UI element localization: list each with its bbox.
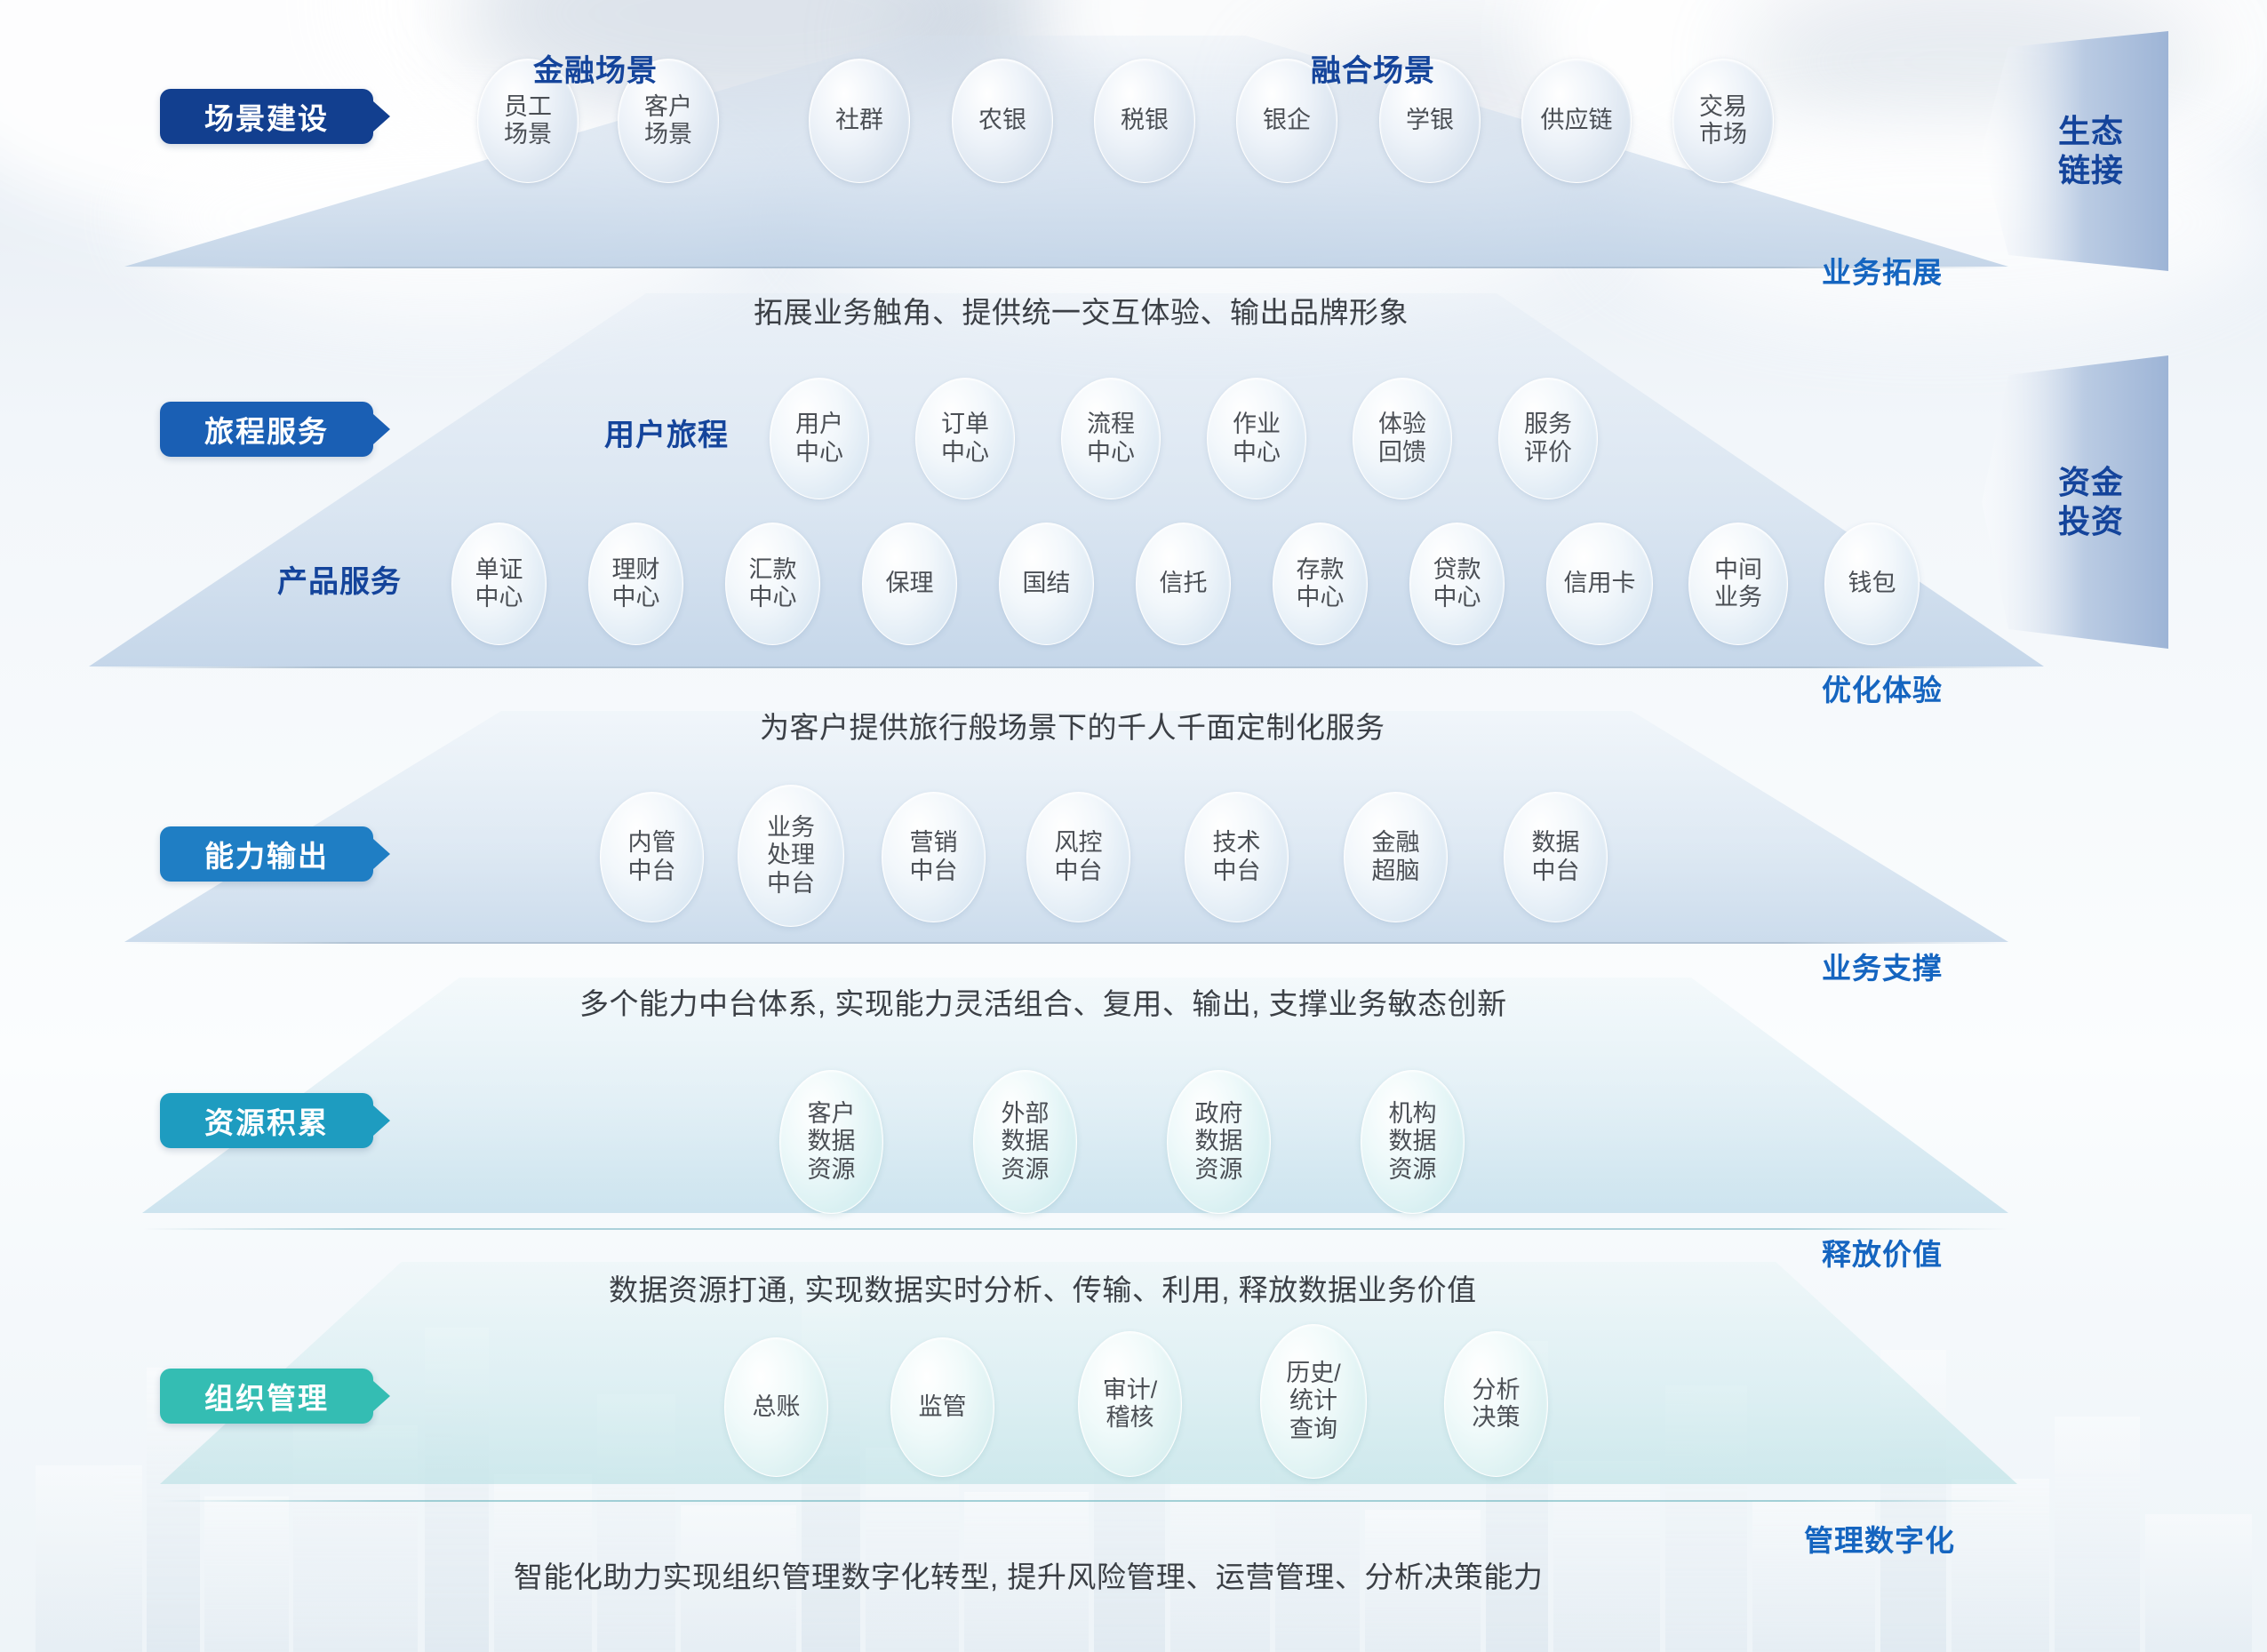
node-wallet[interactable]: 钱包 (1824, 523, 1920, 645)
tier-tab-label: 旅程服务 (204, 408, 329, 451)
node-label: 作业 中心 (1233, 411, 1281, 467)
node-label: 技术 中台 (1213, 829, 1261, 885)
node-label: 学银 (1406, 107, 1454, 134)
node-label: 信托 (1160, 570, 1208, 597)
node-label: 机构 数据 资源 (1389, 1100, 1437, 1184)
node-experience-feedback[interactable]: 体验 回馈 (1353, 378, 1452, 499)
tier-tab-resource-accumulation[interactable]: 资源积累 (160, 1093, 373, 1148)
node-label: 服务 评价 (1524, 411, 1572, 467)
node-document-center[interactable]: 单证 中心 (451, 523, 547, 645)
side-banner-ecosystem: 生态 链接 (1982, 31, 2168, 271)
caption-tier-1: 拓展业务触角、提供统一交互体验、输出品牌形象 (754, 289, 1409, 331)
right-label-release-value: 释放价值 (1822, 1231, 1943, 1273)
node-analysis-decision[interactable]: 分析 决策 (1444, 1331, 1548, 1477)
node-credit-card[interactable]: 信用卡 (1546, 523, 1653, 645)
node-label: 农银 (978, 107, 1026, 134)
side-banner-funding-label: 资金 投资 (2058, 463, 2124, 541)
node-supply-chain[interactable]: 供应链 (1521, 59, 1632, 183)
node-label: 中间 业务 (1714, 556, 1762, 612)
node-financial-brain[interactable]: 金融 超脑 (1344, 792, 1448, 922)
node-label: 社群 (835, 107, 883, 134)
node-wealth-center[interactable]: 理财 中心 (588, 523, 683, 645)
tier-tab-label: 资源积累 (204, 1099, 329, 1142)
right-label-optimize-experience: 优化体验 (1822, 666, 1943, 709)
node-marketing-platform[interactable]: 营销 中台 (882, 792, 986, 922)
node-community[interactable]: 社群 (809, 59, 910, 183)
node-label: 员工 场景 (504, 93, 552, 149)
node-label: 客户 场景 (644, 93, 692, 149)
node-label: 订单 中心 (941, 411, 989, 467)
node-data-platform[interactable]: 数据 中台 (1504, 792, 1608, 922)
tier-tab-organization-management[interactable]: 组织管理 (160, 1369, 373, 1424)
node-label: 信用卡 (1564, 570, 1636, 597)
node-service-evaluation[interactable]: 服务 评价 (1498, 378, 1598, 499)
node-order-center[interactable]: 订单 中心 (915, 378, 1015, 499)
node-label: 政府 数据 资源 (1195, 1100, 1243, 1184)
node-label: 汇款 中心 (749, 556, 797, 612)
node-label: 银企 (1263, 107, 1311, 134)
node-label: 国结 (1023, 570, 1071, 597)
node-government-data-resource[interactable]: 政府 数据 资源 (1167, 1070, 1271, 1214)
node-customer-data-resource[interactable]: 客户 数据 资源 (779, 1070, 883, 1214)
side-banner-funding: 资金 投资 (1982, 355, 2168, 649)
node-institution-data-resource[interactable]: 机构 数据 资源 (1361, 1070, 1465, 1214)
node-external-data-resource[interactable]: 外部 数据 资源 (973, 1070, 1077, 1214)
side-banner-ecosystem-label: 生态 链接 (2058, 112, 2124, 190)
group-title-product-service: 产品服务 (277, 557, 402, 601)
right-label-management-digitalization: 管理数字化 (1804, 1517, 1955, 1560)
node-label: 业务 处理 中台 (767, 814, 815, 898)
node-business-process-platform[interactable]: 业务 处理 中台 (738, 785, 844, 927)
node-label: 营销 中台 (910, 829, 958, 885)
node-label: 审计/ 稽核 (1103, 1377, 1158, 1433)
group-title-financial-scene: 金融场景 (533, 46, 658, 90)
node-label: 风控 中台 (1055, 829, 1103, 885)
right-label-business-expansion: 业务拓展 (1822, 249, 1943, 291)
node-label: 内管 中台 (628, 829, 676, 885)
tier-1-divider (124, 267, 2008, 268)
tier-tab-capability-output[interactable]: 能力输出 (160, 826, 373, 882)
node-label: 存款 中心 (1297, 556, 1345, 612)
node-factoring[interactable]: 保理 (862, 523, 957, 645)
tier-tab-label: 能力输出 (204, 833, 329, 875)
node-label: 金融 超脑 (1372, 829, 1420, 885)
node-history-statistics-query[interactable]: 历史/ 统计 查询 (1260, 1324, 1367, 1479)
node-label: 历史/ 统计 查询 (1286, 1360, 1341, 1443)
node-international-settlement[interactable]: 国结 (999, 523, 1094, 645)
tier-tab-label: 组织管理 (204, 1375, 329, 1417)
node-user-center[interactable]: 用户 中心 (770, 378, 869, 499)
node-supervision[interactable]: 监管 (890, 1337, 994, 1477)
node-label: 客户 数据 资源 (808, 1100, 856, 1184)
node-risk-control-platform[interactable]: 风控 中台 (1026, 792, 1130, 922)
group-title-fusion-scene: 融合场景 (1311, 46, 1435, 90)
node-technology-platform[interactable]: 技术 中台 (1185, 792, 1289, 922)
node-label: 供应链 (1541, 107, 1613, 134)
caption-tier-3: 多个能力中台体系, 实现能力灵活组合、复用、输出, 支撑业务敏态创新 (579, 980, 1507, 1023)
node-label: 交易 市场 (1699, 93, 1747, 149)
caption-tier-5: 智能化助力实现组织管理数字化转型, 提升风险管理、运营管理、分析决策能力 (514, 1553, 1543, 1596)
node-label: 税银 (1121, 107, 1169, 134)
node-deposit-center[interactable]: 存款 中心 (1273, 523, 1368, 645)
node-general-ledger[interactable]: 总账 (724, 1337, 828, 1477)
node-intermediary-business[interactable]: 中间 业务 (1688, 523, 1788, 645)
node-label: 数据 中台 (1532, 829, 1580, 885)
node-trust[interactable]: 信托 (1136, 523, 1231, 645)
tier-tab-scene-building[interactable]: 场景建设 (160, 89, 373, 144)
node-label: 体验 回馈 (1378, 411, 1426, 467)
tier-4-divider (142, 1228, 2008, 1230)
tier-5-divider (160, 1500, 2017, 1502)
node-tax-bank[interactable]: 税银 (1094, 59, 1195, 183)
node-remittance-center[interactable]: 汇款 中心 (725, 523, 820, 645)
node-label: 钱包 (1848, 570, 1896, 597)
node-label: 流程 中心 (1087, 411, 1135, 467)
tier-tab-label: 场景建设 (204, 95, 329, 138)
node-label: 贷款 中心 (1433, 556, 1481, 612)
node-label: 分析 决策 (1473, 1377, 1521, 1433)
node-label: 外部 数据 资源 (1002, 1100, 1050, 1184)
tier-3-divider (124, 942, 2008, 944)
node-label: 用户 中心 (795, 411, 843, 467)
node-trading-market[interactable]: 交易 市场 (1672, 59, 1774, 183)
node-agri-bank[interactable]: 农银 (952, 59, 1053, 183)
node-label: 监管 (919, 1393, 967, 1421)
node-internal-mgmt-platform[interactable]: 内管 中台 (600, 792, 704, 922)
node-label: 总账 (753, 1393, 801, 1421)
node-label: 理财 中心 (612, 556, 660, 612)
tier-2-divider (89, 666, 2044, 668)
tier-tab-journey-service[interactable]: 旅程服务 (160, 402, 373, 457)
node-audit-inspection[interactable]: 审计/ 稽核 (1078, 1331, 1182, 1477)
node-operation-center[interactable]: 作业 中心 (1207, 378, 1306, 499)
node-label: 保理 (886, 570, 934, 597)
caption-tier-2: 为客户提供旅行般场景下的千人千面定制化服务 (760, 704, 1385, 746)
node-label: 单证 中心 (475, 556, 523, 612)
group-title-user-journey: 用户旅程 (604, 411, 729, 454)
node-process-center[interactable]: 流程 中心 (1061, 378, 1161, 499)
right-label-business-support: 业务支撑 (1822, 945, 1943, 987)
node-loan-center[interactable]: 贷款 中心 (1409, 523, 1505, 645)
caption-tier-4: 数据资源打通, 实现数据实时分析、传输、利用, 释放数据业务价值 (609, 1266, 1477, 1309)
